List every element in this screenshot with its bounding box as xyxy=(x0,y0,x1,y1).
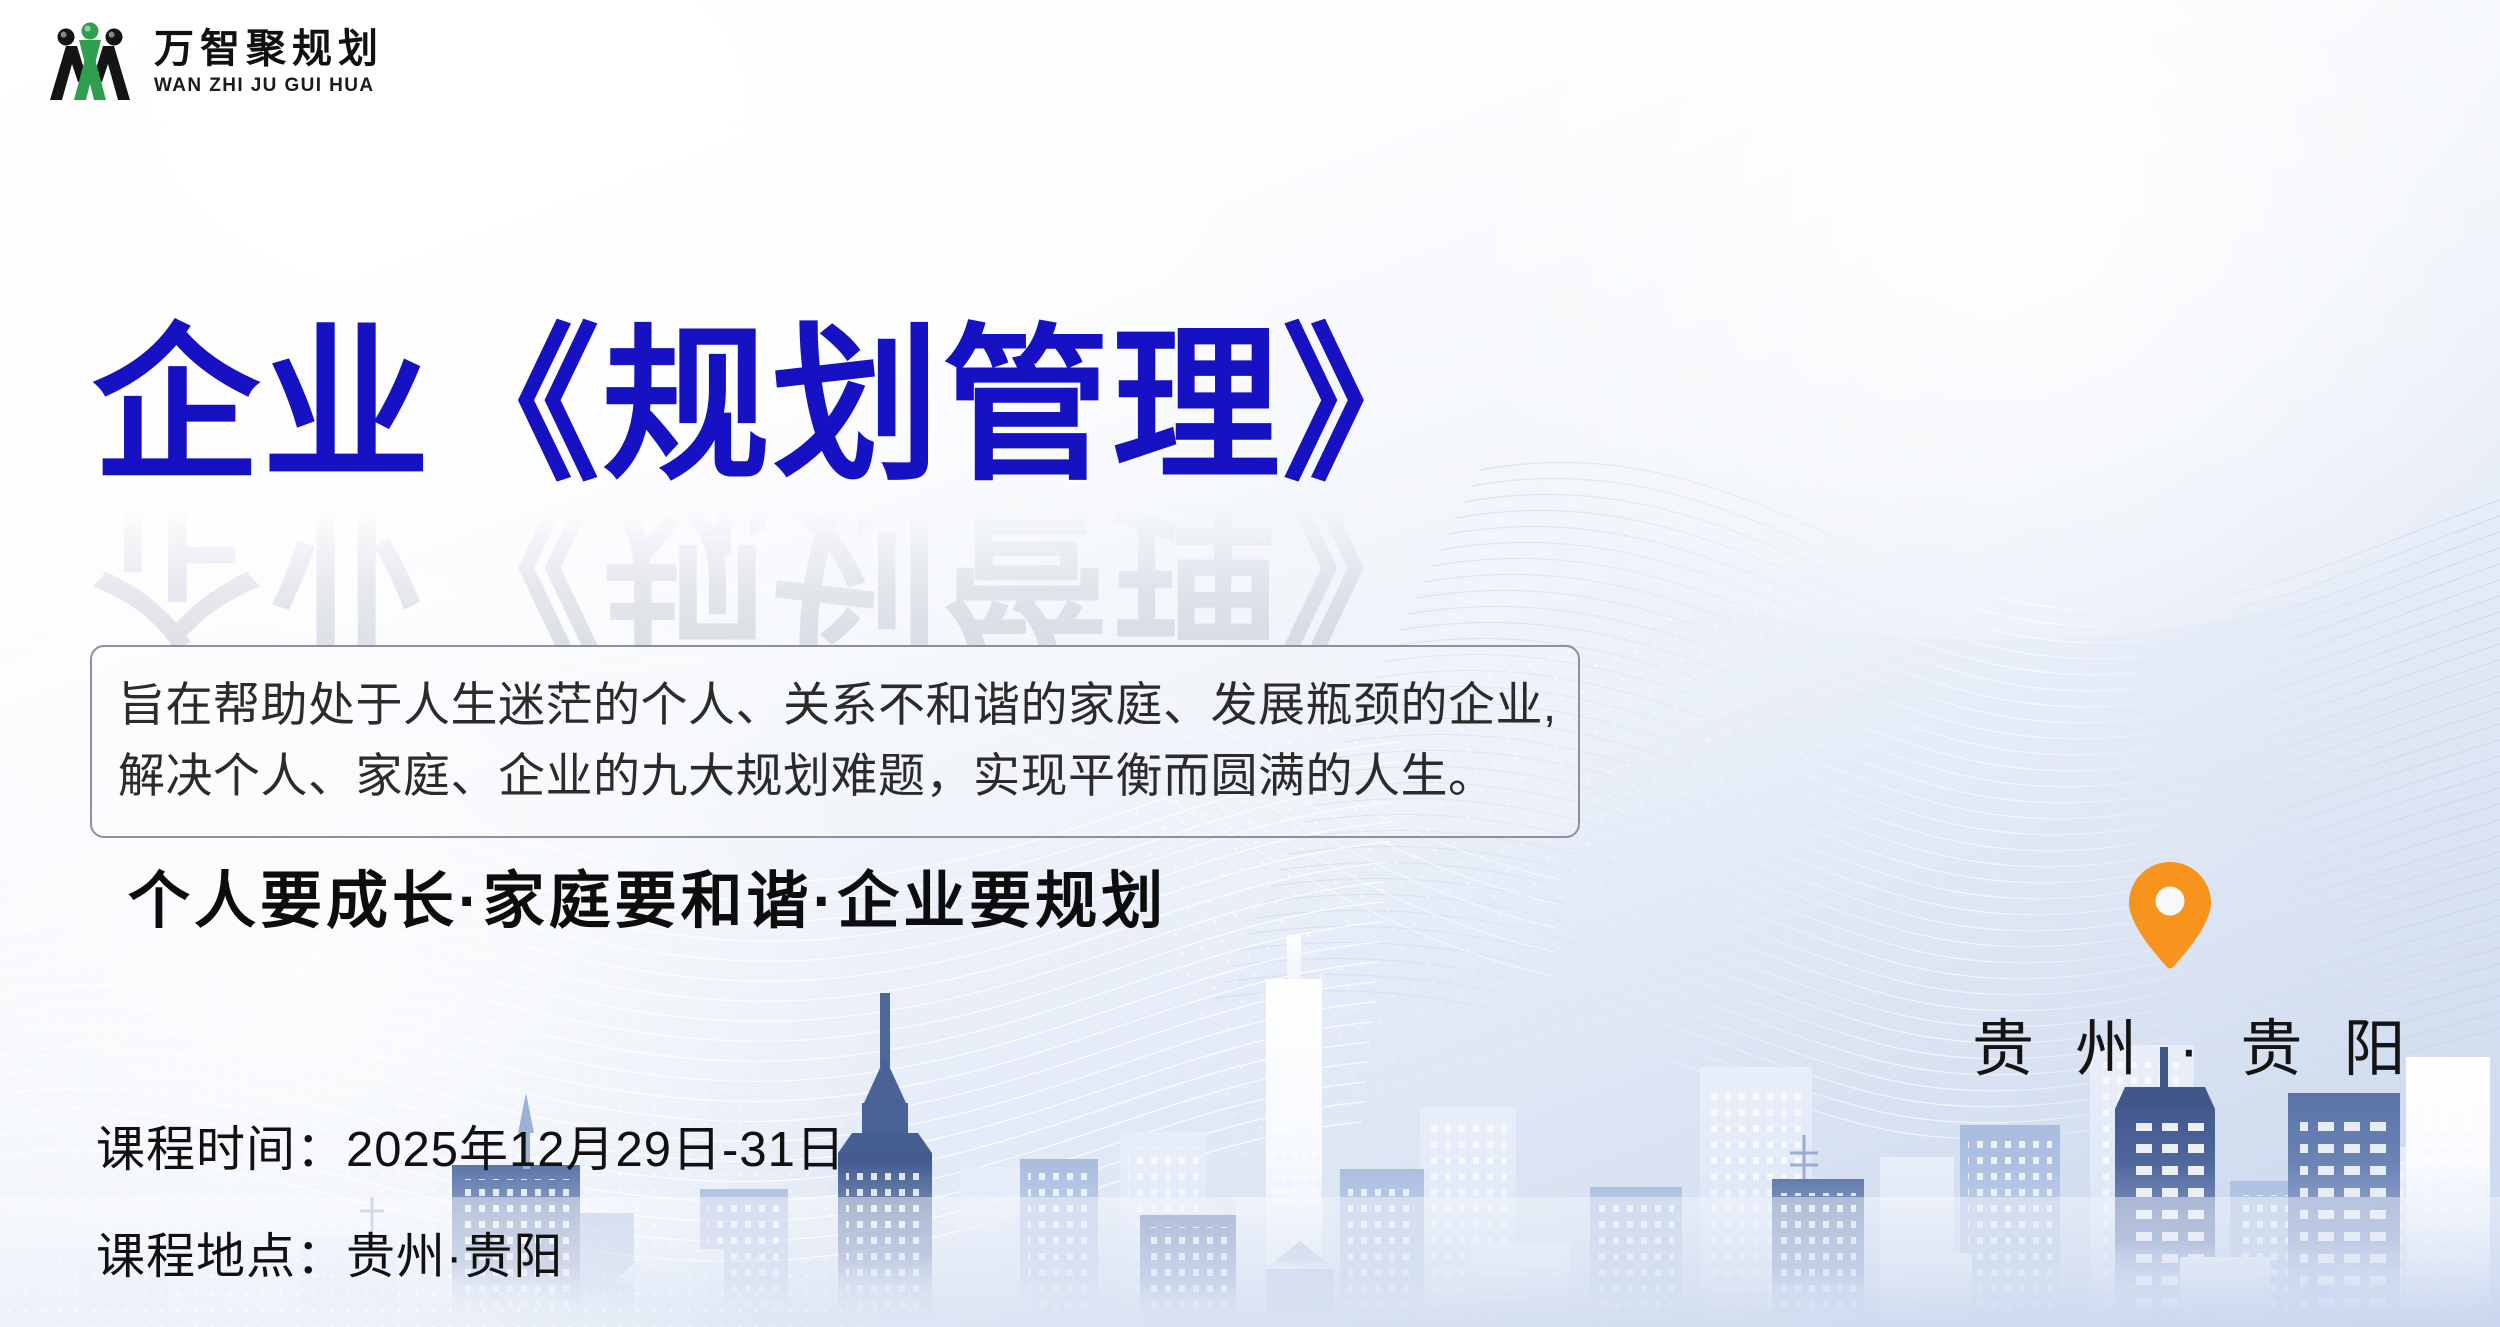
description-line-2: 解决个人、家庭、企业的九大规划难题，实现平衡而圆满的人生。 xyxy=(118,740,1552,811)
brand-logo-text: 万智聚规划 WAN ZHI JU GUI HUA xyxy=(154,27,384,96)
location-block: 贵 州 · 贵 阳 xyxy=(1960,860,2380,1088)
description-line-1: 旨在帮助处于人生迷茫的个人、关系不和谐的家庭、发展瓶颈的企业, xyxy=(118,669,1552,740)
headline-block: 企业《规划管理》 企业《规划管理》 xyxy=(92,322,1652,646)
brand-logo[interactable]: 万智聚规划 WAN ZHI JU GUI HUA xyxy=(44,20,384,104)
course-info-block: 课程时间：2025年12月29日-31日 课程地点：贵州·贵阳 xyxy=(96,1110,846,1288)
three-people-m-logo-icon xyxy=(44,20,136,104)
location-label: 贵 州 · 贵 阳 xyxy=(1960,998,2380,1088)
brand-name-cn: 万智聚规划 xyxy=(154,27,384,70)
tagline: 个人要成长·家庭要和谐·企业要规划 xyxy=(128,850,1167,940)
brand-name-pinyin: WAN ZHI JU GUI HUA xyxy=(154,75,384,97)
course-time-row: 课程时间：2025年12月29日-31日 xyxy=(96,1110,846,1181)
map-pin-icon xyxy=(2127,860,2213,970)
page-title: 企业《规划管理》 xyxy=(92,322,1652,490)
course-place-row: 课程地点：贵州·贵阳 xyxy=(96,1217,846,1288)
page-title-reflection: 企业《规划管理》 xyxy=(92,496,1652,646)
description-box: 旨在帮助处于人生迷茫的个人、关系不和谐的家庭、发展瓶颈的企业, 解决个人、家庭、… xyxy=(90,645,1580,838)
poster-canvas: 万智聚规划 WAN ZHI JU GUI HUA 企业《规划管理》 企业《规划管… xyxy=(0,0,2500,1327)
